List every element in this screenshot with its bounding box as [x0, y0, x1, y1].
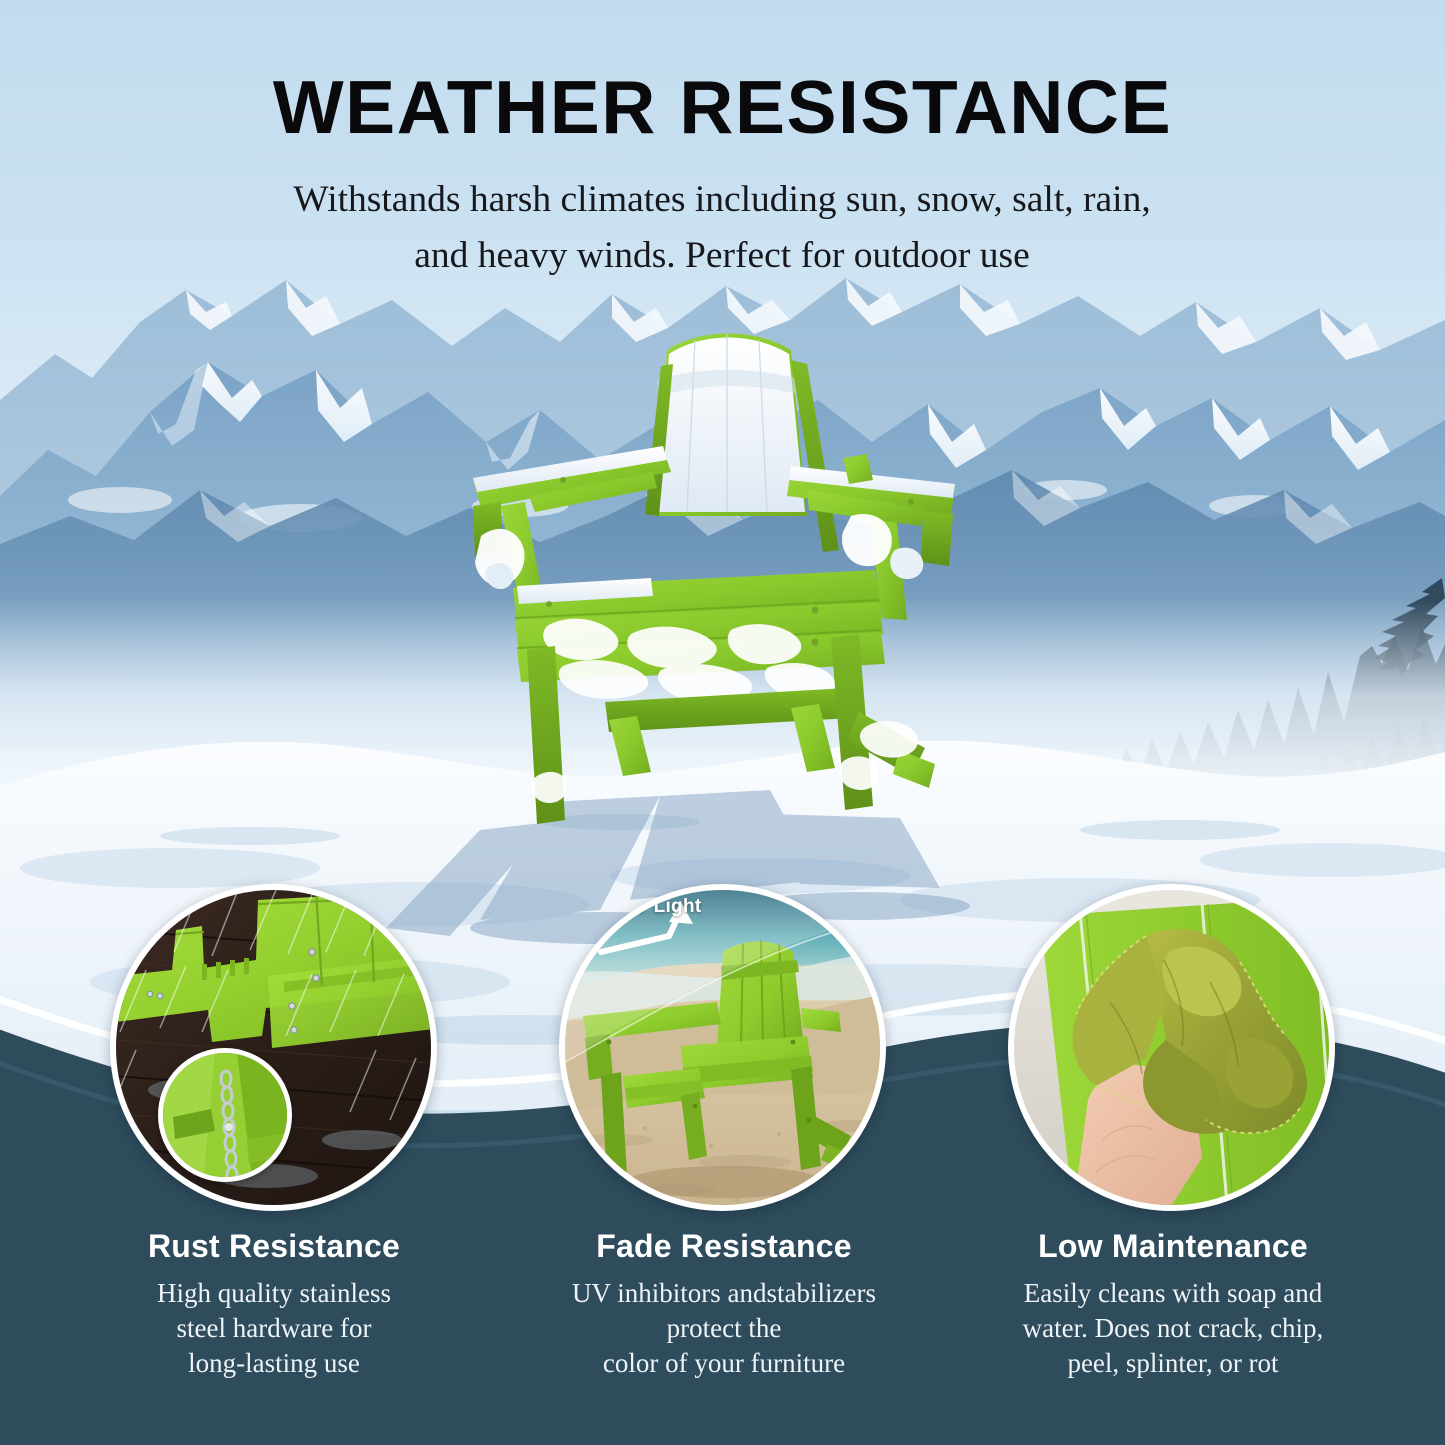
maintenance-body-line-1: Easily cleans with soap and [963, 1276, 1383, 1311]
page-title: WEATHER RESISTANCE [0, 68, 1445, 147]
page-subtitle: Withstands harsh climates including sun,… [222, 172, 1222, 283]
fade-resistance-photo [565, 890, 880, 1205]
infographic-canvas: WEATHER RESISTANCE Withstands harsh clim… [0, 0, 1445, 1445]
feature-body-rust-resistance: High quality stainless steel hardware fo… [64, 1276, 484, 1381]
subtitle-line-2: and heavy winds. Perfect for outdoor use [222, 228, 1222, 284]
subtitle-line-1: Withstands harsh climates including sun,… [222, 172, 1222, 228]
feature-image-rust-resistance [110, 884, 437, 1211]
feature-title-fade-resistance: Fade Resistance [514, 1228, 934, 1265]
pine-branch-icon [1330, 570, 1445, 680]
feature-image-fade-resistance: UV Light [559, 884, 886, 1211]
feature-title-rust-resistance: Rust Resistance [64, 1228, 484, 1265]
feature-caption-rust-resistance: Rust Resistance High quality stainless s… [64, 1228, 484, 1381]
hero-product-chair [455, 320, 985, 850]
fade-body-line-3: color of your furniture [514, 1346, 934, 1381]
feature-caption-fade-resistance: Fade Resistance UV inhibitors andstabili… [514, 1228, 934, 1381]
feature-caption-low-maintenance: Low Maintenance Easily cleans with soap … [963, 1228, 1383, 1381]
fade-body-line-1: UV inhibitors andstabilizers [514, 1276, 934, 1311]
maintenance-body-line-3: peel, splinter, or rot [963, 1346, 1383, 1381]
feature-image-low-maintenance [1008, 884, 1335, 1211]
rust-body-line-1: High quality stainless [64, 1276, 484, 1311]
rust-body-line-3: long-lasting use [64, 1346, 484, 1381]
uv-light-callout: UV Light [621, 896, 702, 918]
low-maintenance-photo [1014, 890, 1329, 1205]
rust-body-line-2: steel hardware for [64, 1311, 484, 1346]
feature-title-low-maintenance: Low Maintenance [963, 1228, 1383, 1265]
feature-body-low-maintenance: Easily cleans with soap and water. Does … [963, 1276, 1383, 1381]
maintenance-body-line-2: water. Does not crack, chip, [963, 1311, 1383, 1346]
fade-body-line-2: protect the [514, 1311, 934, 1346]
hardware-detail-inset [158, 1048, 292, 1182]
feature-body-fade-resistance: UV inhibitors andstabilizers protect the… [514, 1276, 934, 1381]
